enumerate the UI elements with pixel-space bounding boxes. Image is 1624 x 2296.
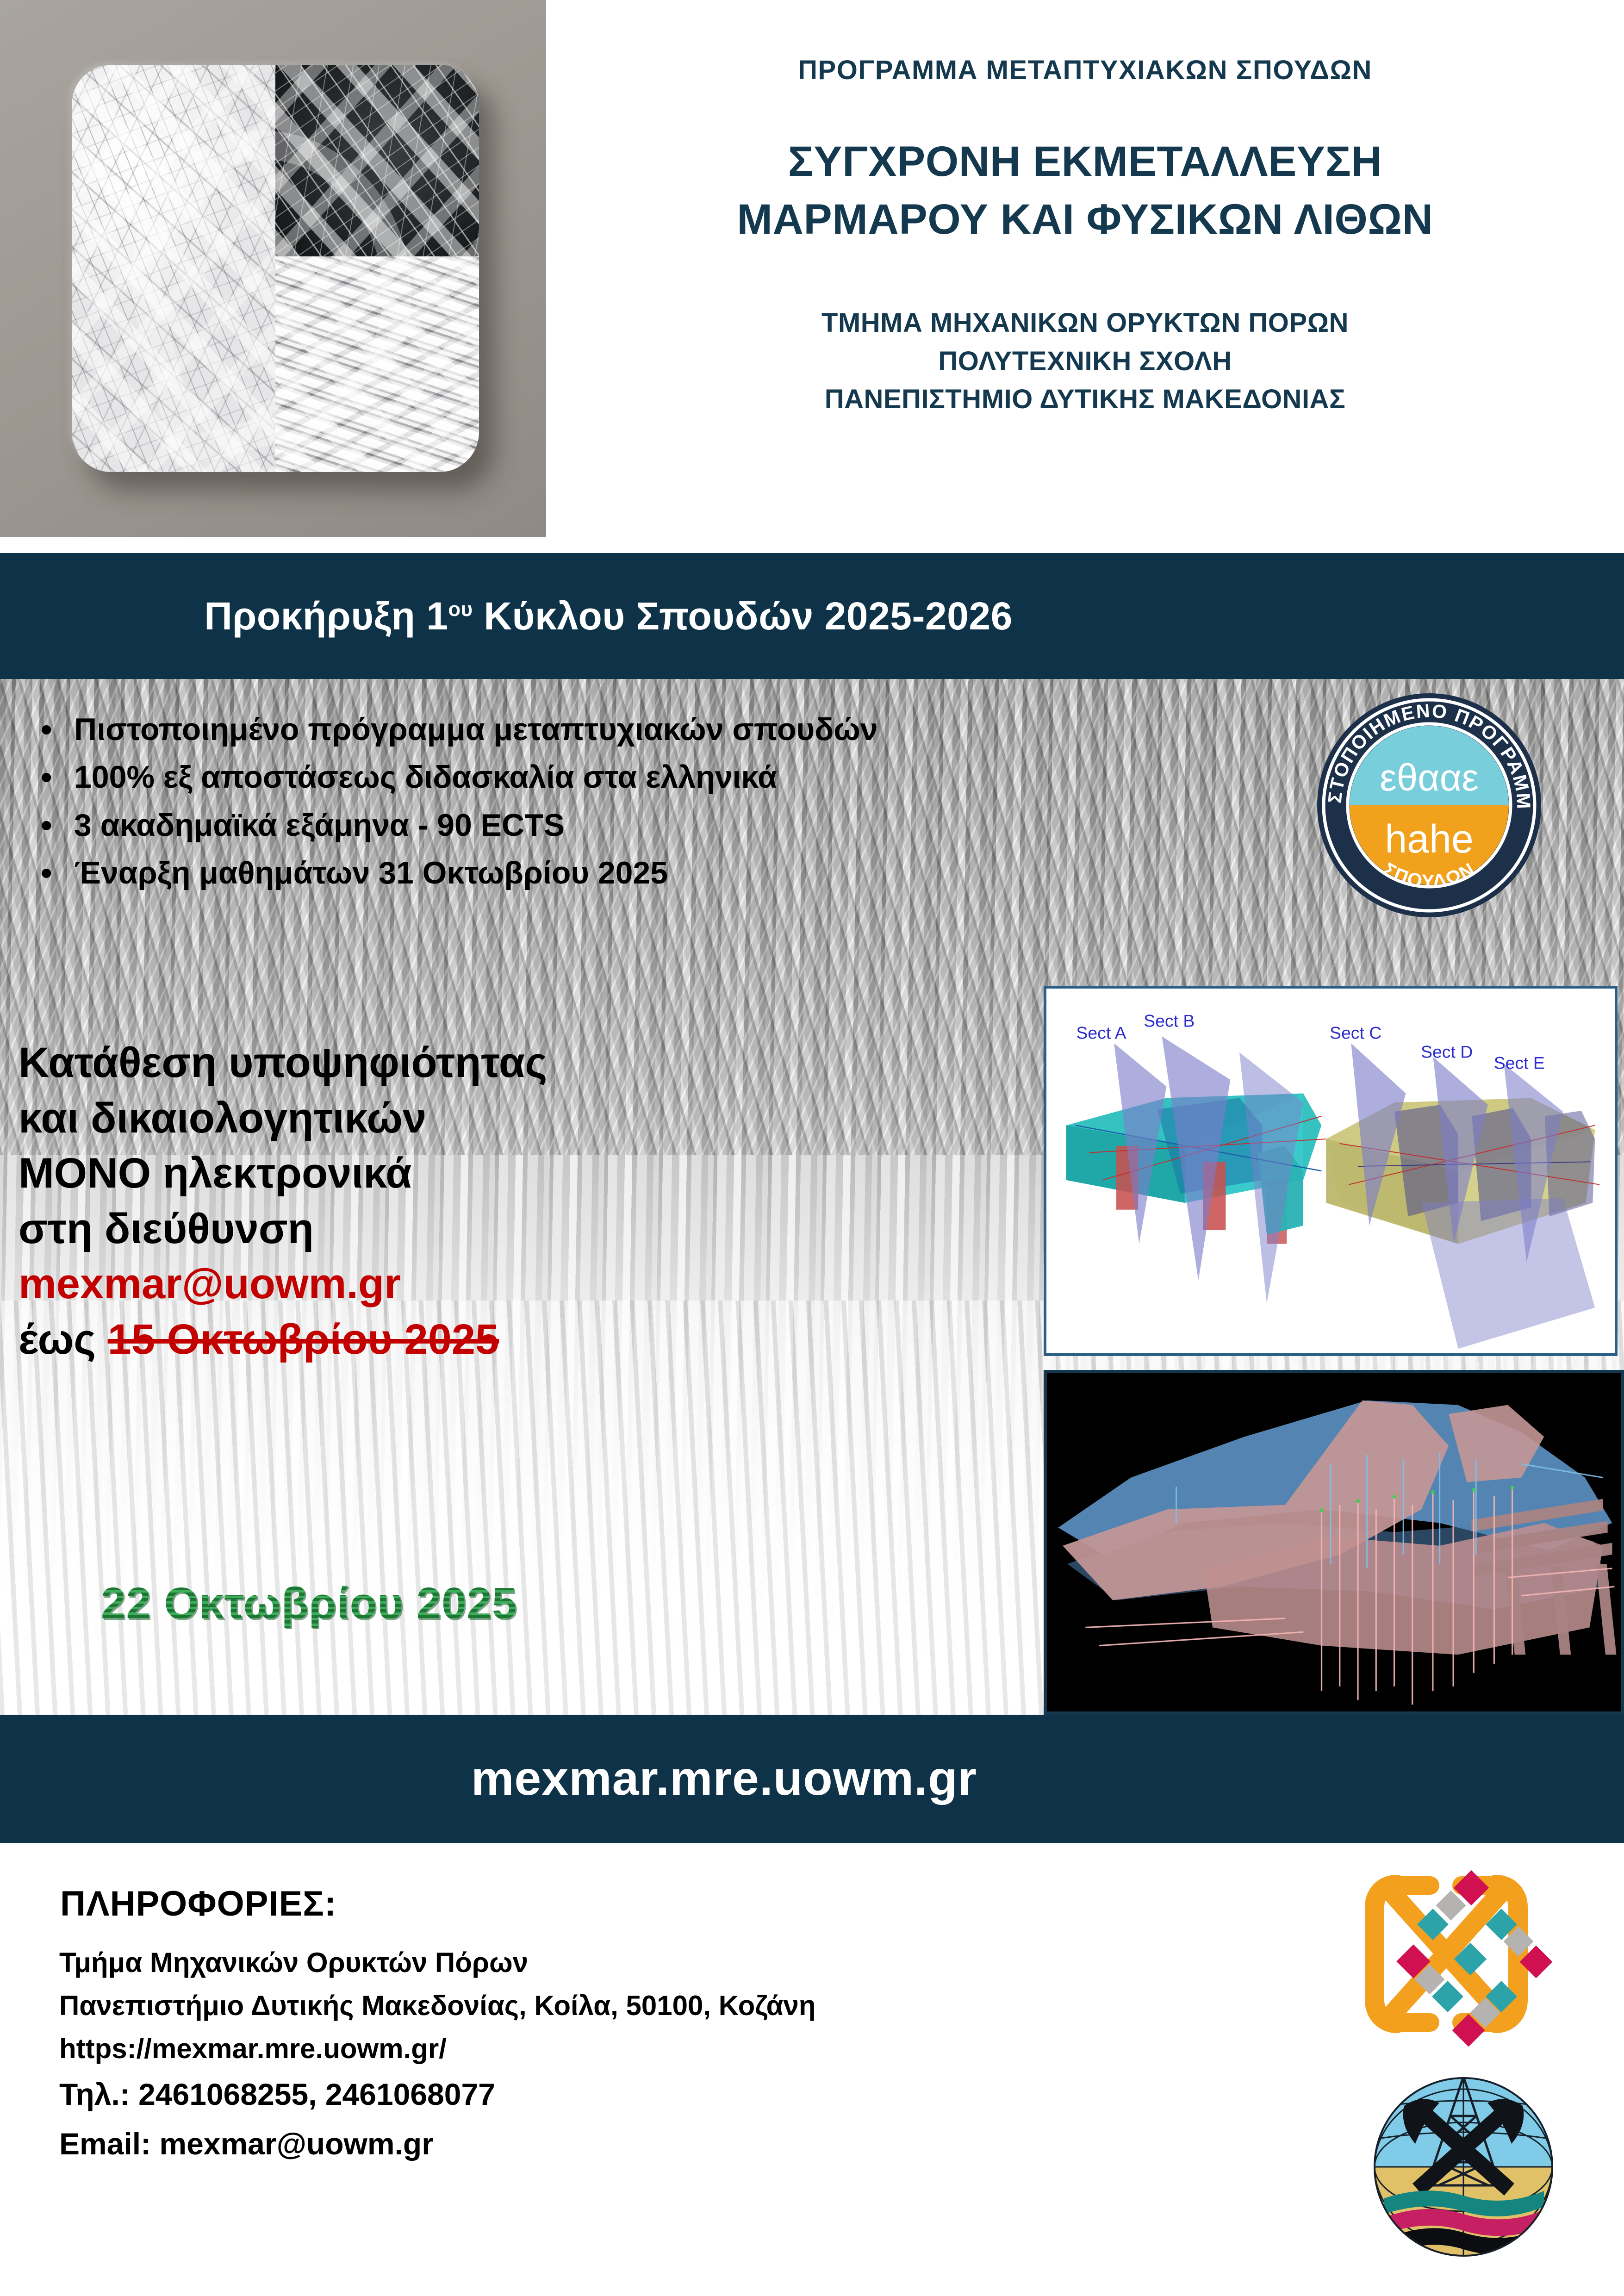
section-label: Sect D <box>1421 1042 1473 1062</box>
list-item: Πιστοποιημένο πρόγραμμα μεταπτυχιακών σπ… <box>19 706 1287 753</box>
marble-quadrant-white <box>72 65 275 472</box>
website-banner: mexmar.mre.uowm.gr <box>0 1715 1624 1843</box>
application-email[interactable]: mexmar@uowm.gr <box>19 1257 1037 1312</box>
program-kicker: ΠΡΟΓΡΑΜΜΑ ΜΕΤΑΠΤΥΧΙΑΚΩΝ ΣΠΟΥΔΩΝ <box>798 55 1372 86</box>
badge-inner-top-text: εθααε <box>1380 757 1479 799</box>
poster-root: ΠΡΟΓΡΑΜΜΑ ΜΕΤΑΠΤΥΧΙΑΚΩΝ ΣΠΟΥΔΩΝ ΣΥΓΧΡΟΝΗ… <box>0 0 1624 2296</box>
contact-block: Τηλ.: 2461068255, 2461068077 Email: mexm… <box>59 2070 1263 2169</box>
footer-address: Πανεπιστήμιο Δυτικής Μακεδονίας, Κοίλα, … <box>59 1984 1263 2027</box>
section-label: Sect A <box>1076 1023 1126 1042</box>
footer-department: Τμήμα Μηχανικών Ορυκτών Πόρων <box>59 1941 1263 1984</box>
section-label: Sect C <box>1330 1023 1381 1042</box>
deadline-prefix: έως <box>19 1316 96 1363</box>
university-knot-logo-icon <box>1338 1861 1555 2047</box>
list-item: Έναρξη μαθημάτων 31 Οκτωβρίου 2025 <box>19 849 1287 897</box>
footer-website-link[interactable]: https://mexmar.mre.uowm.gr/ <box>59 2027 1263 2070</box>
marble-quadrant-black <box>275 65 479 256</box>
info-heading: ΠΛΗΡΟΦΟΡΙΕΣ: <box>60 1884 336 1924</box>
program-title-line1: ΣΥΓΧΡΟΝΗ ΕΚΜΕΤΑΛΛΕΥΣΗ <box>737 133 1433 191</box>
mineral-resources-department-logo-icon <box>1371 2074 1556 2259</box>
application-instructions: Κατάθεση υποψηφιότητας και δικαιολογητικ… <box>19 1035 1037 1368</box>
info-address-block: Τμήμα Μηχανικών Ορυκτών Πόρων Πανεπιστήμ… <box>59 1941 1263 2070</box>
section-label: Sect E <box>1494 1053 1545 1072</box>
poster-header: ΠΡΟΓΡΑΜΜΑ ΜΕΤΑΠΤΥΧΙΑΚΩΝ ΣΠΟΥΔΩΝ ΣΥΓΧΡΟΝΗ… <box>0 0 1624 553</box>
program-logo-panel <box>0 0 546 537</box>
website-url[interactable]: mexmar.mre.uowm.gr <box>471 1751 977 1806</box>
mine-model-diagram <box>1044 1370 1624 1715</box>
university-name: ΠΑΝΕΠΙΣΤΗΜΙΟ ΔΥΤΙΚΗΣ ΜΑΚΕΔΟΝΙΑΣ <box>821 380 1349 418</box>
cta-line-4: στη διεύθυνση <box>19 1201 1037 1257</box>
deadline-old-date: 15 Οκτωβρίου 2025 <box>108 1316 499 1363</box>
cycle-prefix: Προκήρυξη 1 <box>204 594 448 638</box>
block-model-diagram: Sect A Sect B Sect C Sect D Sect E <box>1044 986 1618 1356</box>
program-title: ΣΥΓΧΡΟΝΗ ΕΚΜΕΤΑΛΛΕΥΣΗ ΜΑΡΜΑΡΟΥ ΚΑΙ ΦΥΣΙΚ… <box>737 133 1433 249</box>
footer-phone: Τηλ.: 2461068255, 2461068077 <box>59 2070 1263 2119</box>
school-name: ΠΟΛΥΤΕΧΝΙΚΗ ΣΧΟΛΗ <box>821 342 1349 380</box>
cycle-suffix: Κύκλου Σπουδών 2025-2026 <box>473 594 1013 638</box>
cta-line-1: Κατάθεση υποψηφιότητας <box>19 1035 1037 1091</box>
cta-line-3: ΜΟΝΟ ηλεκτρονικά <box>19 1146 1037 1201</box>
list-item: 100% εξ αποστάσεως διδασκαλία στα ελληνι… <box>19 753 1287 801</box>
list-item: 3 ακαδημαϊκά εξάμηνα - 90 ECTS <box>19 802 1287 849</box>
header-text-block: ΠΡΟΓΡΑΜΜΑ ΜΕΤΑΠΤΥΧΙΑΚΩΝ ΣΠΟΥΔΩΝ ΣΥΓΧΡΟΝΗ… <box>546 0 1624 537</box>
cycle-superscript: ου <box>448 598 473 621</box>
section-label: Sect B <box>1144 1011 1195 1031</box>
footer-email[interactable]: Email: mexmar@uowm.gr <box>59 2119 1263 2169</box>
marble-quadrant-wavy <box>275 256 479 472</box>
cta-line-2: και δικαιολογητικών <box>19 1091 1037 1146</box>
program-features-list: Πιστοποιημένο πρόγραμμα μεταπτυχιακών σπ… <box>19 706 1287 897</box>
accreditation-badge: ΠΙΣΤΟΠΟΙΗΜΕΝΟ ΠΡΟΓΡΑΜΜΑ ΣΠΟΥΔΩΝ εθααε ha… <box>1313 690 1545 921</box>
department-name: ΤΜΗΜΑ ΜΗΧΑΝΙΚΩΝ ΟΡΥΚΤΩΝ ΠΟΡΩΝ <box>821 304 1349 342</box>
program-title-line2: ΜΑΡΜΑΡΟΥ ΚΑΙ ΦΥΣΙΚΩΝ ΛΙΘΩΝ <box>737 191 1433 249</box>
badge-inner-bottom-text: hahe <box>1385 817 1473 861</box>
deadline-row: έως 15 Οκτωβρίου 2025 <box>19 1312 1037 1368</box>
marble-tile-logo-icon <box>72 65 479 472</box>
cycle-announcement-text: Προκήρυξη 1ου Κύκλου Σπουδών 2025-2026 <box>204 594 1013 639</box>
institution-block: ΤΜΗΜΑ ΜΗΧΑΝΙΚΩΝ ΟΡΥΚΤΩΝ ΠΟΡΩΝ ΠΟΛΥΤΕΧΝΙΚ… <box>821 304 1349 418</box>
poster-footer: ΠΛΗΡΟΦΟΡΙΕΣ: Τμήμα Μηχανικών Ορυκτών Πόρ… <box>0 1843 1624 2296</box>
deadline-new-date: 22 Οκτωβρίου 2025 <box>101 1578 517 1629</box>
cycle-announcement-banner: Προκήρυξη 1ου Κύκλου Σπουδών 2025-2026 <box>0 553 1624 679</box>
